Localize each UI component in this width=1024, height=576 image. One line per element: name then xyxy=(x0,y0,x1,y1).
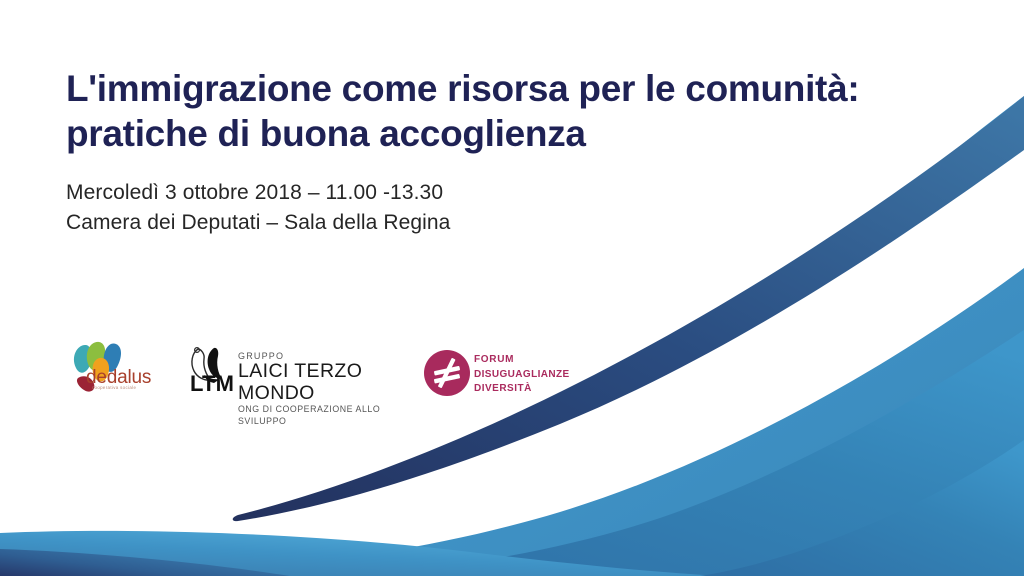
forum-line-diversita: DIVERSITÀ xyxy=(474,382,570,397)
ltm-line-descriptor: ONG DI COOPERAZIONE ALLO SVILUPPO xyxy=(238,404,402,427)
slide-subtitle: Mercoledì 3 ottobre 2018 – 11.00 -13.30 … xyxy=(66,178,896,238)
not-equal-circle-icon xyxy=(424,350,470,396)
forum-line-forum: FORUM xyxy=(474,353,570,368)
page-title: L'immigrazione come risorsa per le comun… xyxy=(66,66,896,156)
swoosh-bottom-band xyxy=(0,531,720,576)
ltm-text-lines: GRUPPO LAICI TERZO MONDO ONG DI COOPERAZ… xyxy=(238,351,402,427)
forum-line-disuguaglianze: DISUGUAGLIANZE xyxy=(474,368,570,383)
dedalus-tagline: cooperativa sociale xyxy=(92,386,136,390)
swoosh-bottom-navy xyxy=(0,549,290,576)
logo-dedalus: dedalus cooperativa sociale xyxy=(58,338,170,408)
swoosh-bottom-right-fill xyxy=(700,440,1024,576)
ltm-monogram: LTM xyxy=(190,373,234,395)
ltm-line-name: LAICI TERZO MONDO xyxy=(238,361,402,404)
slide-text-block: L'immigrazione come risorsa per le comun… xyxy=(66,66,896,238)
logo-strip: dedalus cooperativa sociale LTM GRUPPO L… xyxy=(58,338,574,408)
logo-ltm: LTM GRUPPO LAICI TERZO MONDO ONG DI COOP… xyxy=(184,343,402,403)
presentation-slide: L'immigrazione come risorsa per le comun… xyxy=(0,0,1024,576)
forum-text-lines: FORUM DISUGUAGLIANZE DIVERSITÀ xyxy=(474,353,570,397)
logo-forum-disuguaglianze: FORUM DISUGUAGLIANZE DIVERSITÀ xyxy=(424,345,574,401)
